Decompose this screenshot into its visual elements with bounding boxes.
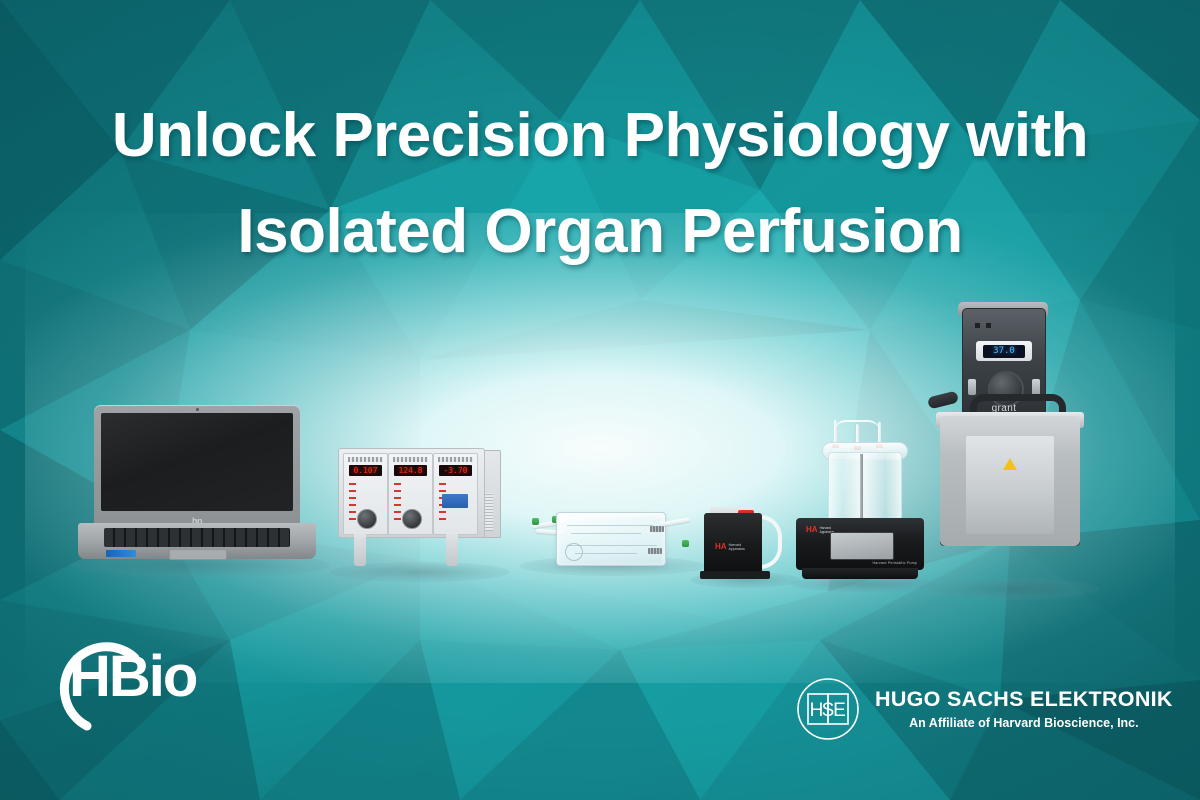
hse-tagline: An Affiliate of Harvard Bioscience, Inc. [875,716,1173,731]
hbio-logo[interactable]: HBio [55,648,196,706]
headline-line-2: Isolated Organ Perfusion [0,184,1200,280]
page-title: Unlock Precision Physiology with Isolate… [0,88,1200,280]
hse-logo[interactable]: H S E HUGO SACHS ELEKTRONIK An Affiliate… [795,676,1173,742]
headline-line-1: Unlock Precision Physiology with [112,101,1088,170]
hse-wordmark-block: HUGO SACHS ELEKTRONIK An Affiliate of Ha… [875,687,1173,732]
promo-banner: Unlock Precision Physiology with Isolate… [0,0,1200,800]
hse-company-name: HUGO SACHS ELEKTRONIK [875,687,1173,712]
hbio-wordmark: HBio [69,648,196,706]
hse-monogram-icon: H S E [795,676,861,742]
svg-text:E: E [833,700,846,721]
